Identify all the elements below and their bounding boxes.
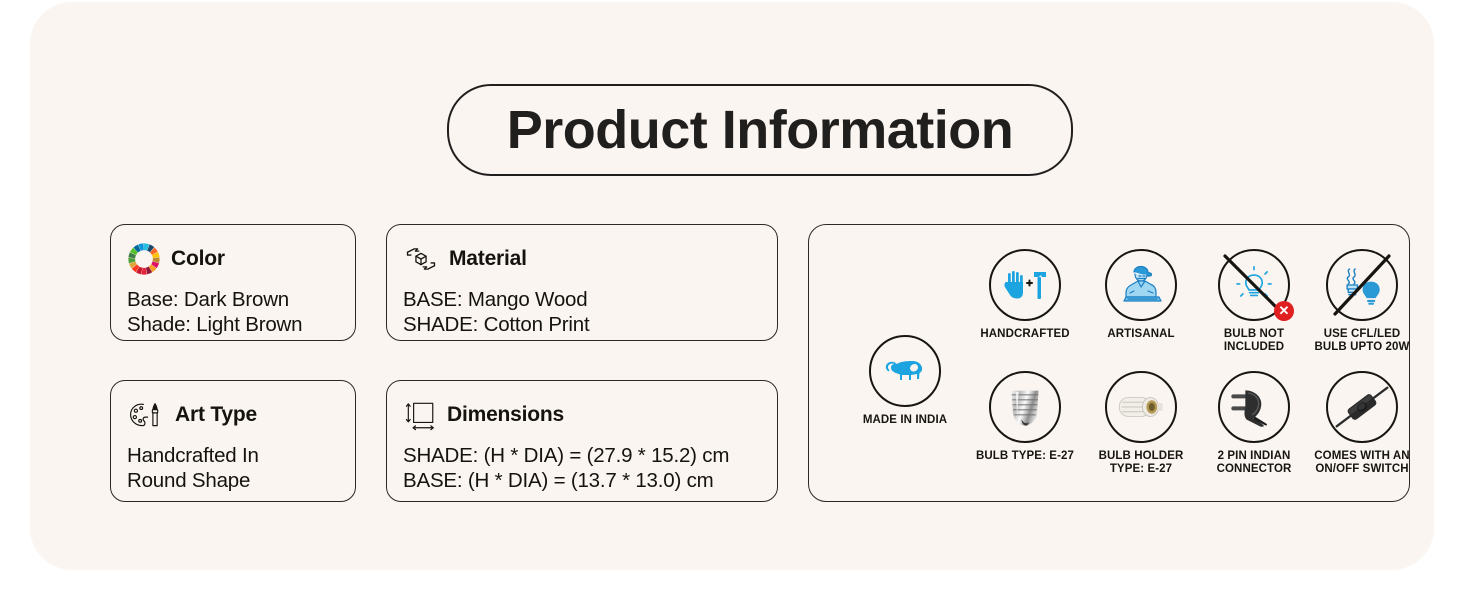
color-wheel-icon xyxy=(127,242,161,276)
spec-line: Round Shape xyxy=(127,468,339,493)
palette-brush-icon xyxy=(127,398,165,432)
badge-label: 2 PIN INDIAN CONNECTOR xyxy=(1195,450,1313,476)
badge-artisanal: ARTISANAL xyxy=(1082,249,1200,341)
spec-line: SHADE: (H * DIA) = (27.9 * 15.2) cm xyxy=(403,443,761,468)
badge-circle xyxy=(869,335,941,407)
spec-card-title: Material xyxy=(449,247,527,271)
badge-cfl-led: USE CFL/LED BULB UPTO 20W xyxy=(1303,249,1421,354)
spec-card-color: Color Base: Dark Brown Shade: Light Brow… xyxy=(110,224,356,341)
badge-bulb-not-included: ✕ BULB NOT INCLUDED xyxy=(1195,249,1313,354)
badge-label: USE CFL/LED BULB UPTO 20W xyxy=(1303,328,1421,354)
badge-circle xyxy=(1105,249,1177,321)
spec-line: SHADE: Cotton Print xyxy=(403,312,761,337)
hand-plus-hammer-icon xyxy=(1002,265,1048,305)
badge-circle xyxy=(989,371,1061,443)
spec-card-header: Art Type xyxy=(127,395,339,435)
badge-label: BULB NOT INCLUDED xyxy=(1195,328,1313,354)
lion-icon xyxy=(882,354,928,388)
bulb-base-e27-icon xyxy=(1000,382,1050,432)
spec-card-body: SHADE: (H * DIA) = (27.9 * 15.2) cm BASE… xyxy=(403,443,761,493)
spec-line: Base: Dark Brown xyxy=(127,287,339,312)
badge-label: MADE IN INDIA xyxy=(849,414,961,427)
bulb-holder-icon xyxy=(1114,387,1168,427)
badge-connector: 2 PIN INDIAN CONNECTOR xyxy=(1195,371,1313,476)
badge-switch: COMES WITH AN ON/OFF SWITCH xyxy=(1303,371,1421,476)
spec-card-material: Material BASE: Mango Wood SHADE: Cotton … xyxy=(386,224,778,341)
badge-bulb-type: BULB TYPE: E-27 xyxy=(965,371,1085,463)
badge-circle: ✕ xyxy=(1218,249,1290,321)
spec-card-header: Color xyxy=(127,239,339,279)
spec-card-body: BASE: Mango Wood SHADE: Cotton Print xyxy=(403,287,761,337)
spec-card-title: Dimensions xyxy=(447,403,564,427)
hands-holding-cube-icon xyxy=(403,241,439,277)
infographic-canvas: Product Information xyxy=(30,2,1434,570)
spec-card-body: Base: Dark Brown Shade: Light Brown xyxy=(127,287,339,337)
badge-label: HANDCRAFTED xyxy=(965,328,1085,341)
badge-made-in-india: MADE IN INDIA xyxy=(849,335,961,427)
badge-circle xyxy=(1105,371,1177,443)
inline-switch-icon xyxy=(1334,382,1390,432)
badge-handcrafted: HANDCRAFTED xyxy=(965,249,1085,341)
badge-label: ARTISANAL xyxy=(1082,328,1200,341)
spec-card-body: Handcrafted In Round Shape xyxy=(127,443,339,493)
artisan-worker-icon xyxy=(1116,262,1166,308)
spec-card-header: Material xyxy=(403,239,761,279)
badge-circle xyxy=(1218,371,1290,443)
measure-square-icon xyxy=(403,398,437,432)
spec-line: Shade: Light Brown xyxy=(127,312,339,337)
badge-circle xyxy=(989,249,1061,321)
spec-card-header: Dimensions xyxy=(403,395,761,435)
page-title: Product Information xyxy=(447,84,1073,176)
feature-badges-panel: MADE IN INDIA xyxy=(808,224,1410,502)
spec-card-title: Color xyxy=(171,247,225,271)
spec-line: Handcrafted In xyxy=(127,443,339,468)
close-icon: ✕ xyxy=(1274,301,1294,321)
badge-bulb-holder: BULB HOLDER TYPE: E-27 xyxy=(1082,371,1200,476)
cfl-led-bulb-icon xyxy=(1338,262,1386,308)
two-pin-plug-icon xyxy=(1228,385,1280,429)
spec-line: BASE: (H * DIA) = (13.7 * 13.0) cm xyxy=(403,468,761,493)
badge-circle xyxy=(1326,371,1398,443)
bulb-crossed-icon xyxy=(1232,263,1276,307)
badge-label: COMES WITH AN ON/OFF SWITCH xyxy=(1303,450,1421,476)
spec-line: BASE: Mango Wood xyxy=(403,287,761,312)
badge-label: BULB HOLDER TYPE: E-27 xyxy=(1082,450,1200,476)
spec-card-arttype: Art Type Handcrafted In Round Shape xyxy=(110,380,356,502)
badge-circle xyxy=(1326,249,1398,321)
page-title-text: Product Information xyxy=(507,103,1013,157)
spec-card-dimensions: Dimensions SHADE: (H * DIA) = (27.9 * 15… xyxy=(386,380,778,502)
badge-label: BULB TYPE: E-27 xyxy=(965,450,1085,463)
spec-card-title: Art Type xyxy=(175,403,257,427)
